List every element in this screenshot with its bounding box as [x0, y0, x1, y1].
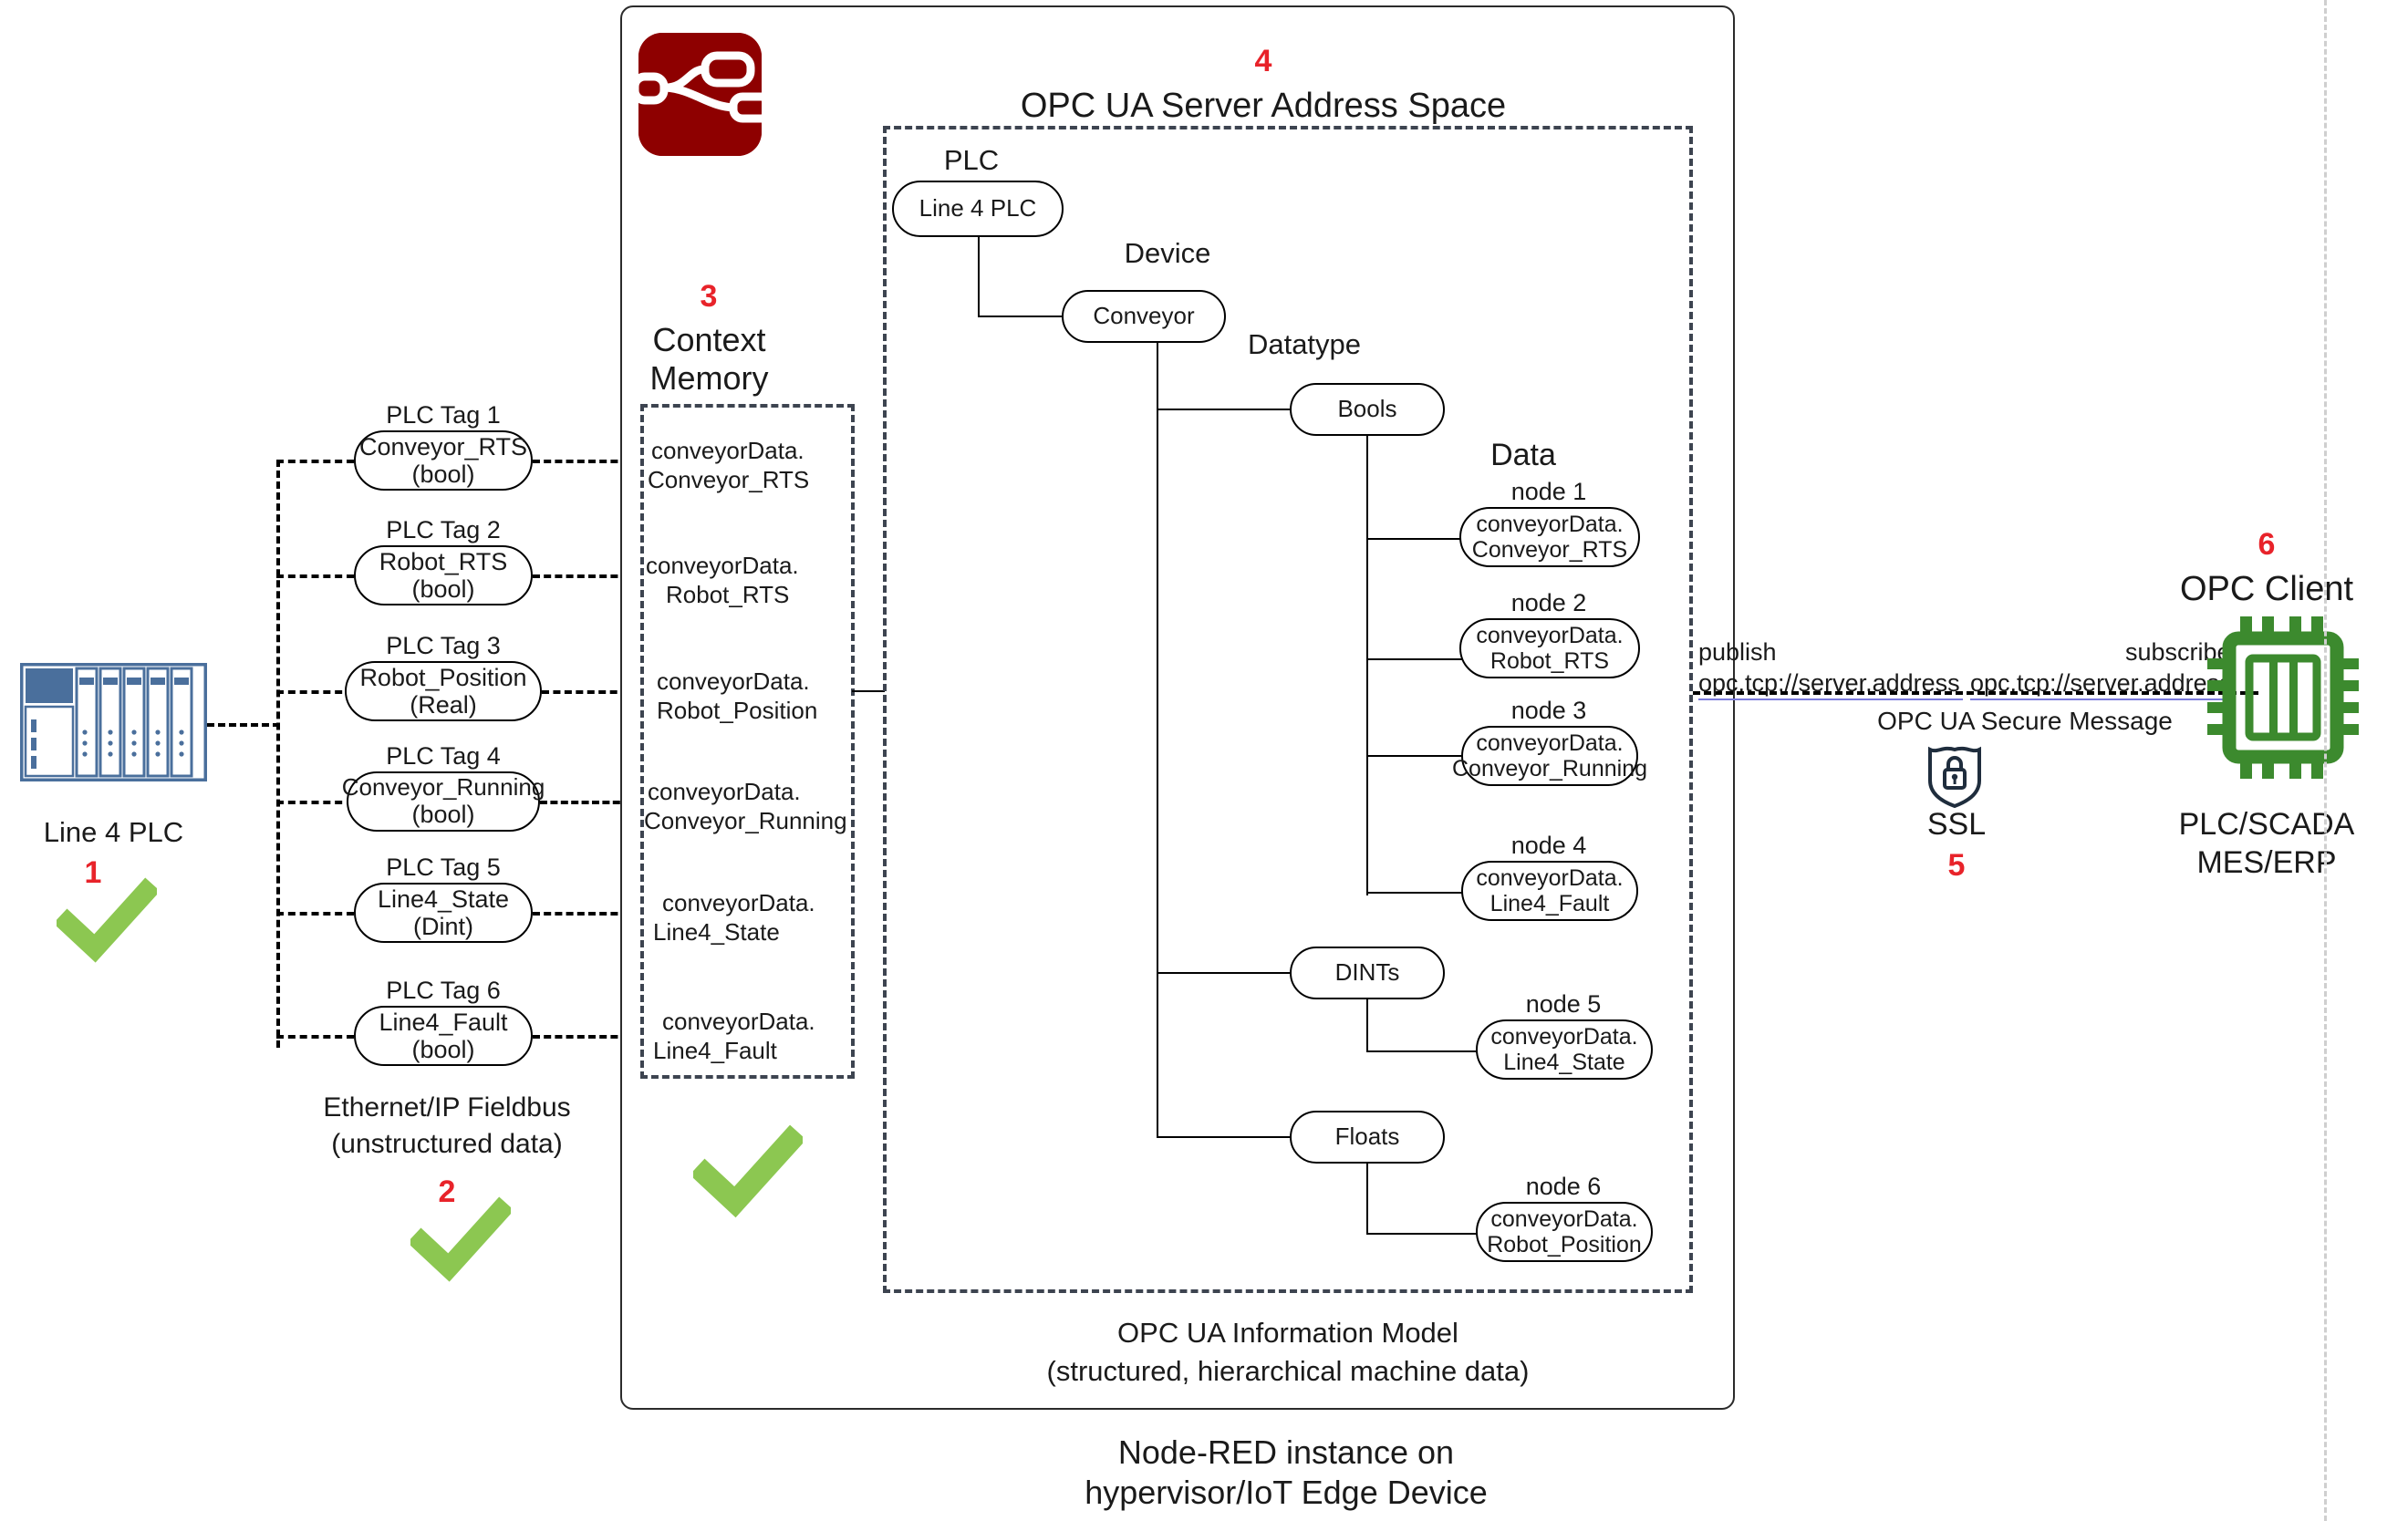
plc-tag-4-node[interactable]: Conveyor_Running (bool) [347, 771, 540, 832]
data-node-3-caption: node 3 [1467, 697, 1631, 725]
dints-to-node5 [1366, 1050, 1481, 1052]
opc-client-line2: MES/ERP [2125, 844, 2408, 881]
device-to-dints [1157, 972, 1290, 974]
addressspace-device-node-label: Conveyor [1093, 303, 1194, 329]
plc-tag-4-caption: PLC Tag 4 [337, 742, 549, 771]
memory-entry-3-prefix: conveyorData. [644, 667, 852, 696]
data-node-2-prefix: conveyorData. [1476, 623, 1623, 648]
plc-tag-6-name: Line4_Fault [379, 1009, 507, 1036]
plc-device-elbow-v [978, 237, 980, 317]
line4-plc-label: Line 4 PLC [20, 816, 207, 850]
memory-entry-5-suffix: Line4_State [644, 918, 852, 947]
line4-plc-graphic [20, 663, 207, 781]
memory-entry-1-suffix: Conveyor_RTS [644, 466, 852, 494]
datatype-dints-label: DINTs [1335, 959, 1400, 986]
step-number-6: 6 [2239, 527, 2294, 563]
plc-device-elbow-h [978, 316, 1062, 317]
container-footer-line1: Node-RED instance on [912, 1433, 1660, 1472]
data-node-1-suffix: Conveyor_RTS [1472, 537, 1627, 563]
plc-tag-1-node[interactable]: Conveyor_RTS (bool) [354, 430, 533, 491]
plc-tag-1-caption: PLC Tag 1 [354, 401, 533, 429]
plc-tag-6-node[interactable]: Line4_Fault (bool) [354, 1006, 533, 1066]
device-to-bools [1157, 409, 1290, 410]
memory-entry-1-prefix: conveyorData. [644, 437, 852, 465]
fieldbus-branch-6 [276, 1035, 354, 1039]
right-boundary-divider [2324, 0, 2327, 1521]
data-node-4-caption: node 4 [1467, 832, 1631, 860]
plc-tag-3-type: (Real) [410, 691, 477, 719]
data-node-2[interactable]: conveyorData. Robot_RTS [1459, 618, 1640, 678]
opc-client-line1: PLC/SCADA [2125, 806, 2408, 843]
fieldbus-label-line2: (unstructured data) [301, 1128, 593, 1160]
addressspace-device-node[interactable]: Conveyor [1062, 290, 1226, 343]
addressspace-datatype-dints[interactable]: DINTs [1290, 947, 1445, 999]
addressspace-datatype-floats[interactable]: Floats [1290, 1111, 1445, 1164]
plc-tag-6-type: (bool) [411, 1036, 474, 1063]
plc-tag-2-node[interactable]: Robot_RTS (bool) [354, 545, 533, 605]
publish-url-link[interactable]: opc.tcp://server.address [1698, 669, 1963, 700]
data-node-3-suffix: Conveyor_Running [1452, 756, 1647, 781]
plc-tag-1-type: (bool) [411, 460, 474, 488]
check-icon-2 [410, 1185, 511, 1286]
context-memory-title-line2: Memory [629, 359, 789, 398]
fieldbus-branch-2 [276, 574, 354, 578]
memory-entry-2-suffix: Robot_RTS [642, 581, 852, 609]
node-red-logo-icon [638, 33, 762, 156]
data-node-2-caption: node 2 [1467, 589, 1631, 617]
secure-message-label: OPC UA Secure Message [1770, 706, 2280, 736]
data-node-6-suffix: Robot_Position [1487, 1232, 1642, 1257]
addressspace-plc-node[interactable]: Line 4 PLC [892, 181, 1064, 237]
plc-tag-5-node[interactable]: Line4_State (Dint) [354, 883, 533, 943]
data-node-6-caption: node 6 [1481, 1173, 1645, 1201]
data-node-3[interactable]: conveyorData. Conveyor_Running [1461, 726, 1638, 786]
memory-entry-2-prefix: conveyorData. [642, 552, 852, 580]
memory-to-addressspace-connector [852, 690, 885, 692]
plc-tag-2-type: (bool) [411, 575, 474, 603]
fieldbus-label-line1: Ethernet/IP Fieldbus [301, 1092, 593, 1123]
data-node-5-caption: node 5 [1481, 990, 1645, 1019]
plc-tag-6-caption: PLC Tag 6 [354, 977, 533, 1005]
data-node-5[interactable]: conveyorData. Line4_State [1476, 1019, 1653, 1080]
publish-label: publish [1698, 638, 1881, 667]
plc-tag-1-name: Conveyor_RTS [359, 433, 527, 460]
node-red-logo [638, 33, 762, 156]
data-node-4-suffix: Line4_Fault [1490, 891, 1610, 916]
addressspace-plc-caption: PLC [912, 144, 1031, 177]
memory-entry-6-prefix: conveyorData. [644, 1008, 852, 1036]
plc-rack-icon [20, 663, 207, 781]
addressspace-datatype-bools[interactable]: Bools [1290, 383, 1445, 436]
data-node-6-prefix: conveyorData. [1490, 1206, 1637, 1232]
memory-entry-6-suffix: Line4_Fault [644, 1037, 852, 1065]
datatype-floats-label: Floats [1335, 1123, 1400, 1150]
datatype-bools-label: Bools [1337, 396, 1396, 422]
address-space-heading: OPC UA Server Address Space [912, 86, 1614, 127]
data-node-4-prefix: conveyorData. [1476, 865, 1623, 891]
context-memory-title-line1: Context [629, 321, 789, 359]
data-node-6[interactable]: conveyorData. Robot_Position [1476, 1202, 1653, 1262]
addressspace-datatype-caption: Datatype [1213, 328, 1396, 361]
step-number-4: 4 [1236, 44, 1291, 79]
device-to-floats [1157, 1136, 1290, 1138]
plc-tag-5-name: Line4_State [378, 885, 509, 913]
plc-tag-3-name: Robot_Position [359, 664, 526, 691]
bools-to-node4 [1366, 892, 1467, 894]
dints-trunk [1366, 999, 1368, 1052]
plc-tag-4-type: (bool) [411, 801, 474, 828]
addressspace-device-caption: Device [1085, 237, 1250, 270]
bools-trunk [1366, 436, 1368, 895]
device-datatype-trunk [1157, 343, 1158, 1138]
context-memory-box [640, 404, 855, 1079]
plc-tag-4-name: Conveyor_Running [342, 774, 545, 801]
bools-to-node1 [1366, 538, 1467, 540]
data-node-4[interactable]: conveyorData. Line4_Fault [1461, 861, 1638, 921]
floats-trunk [1366, 1164, 1368, 1235]
container-footer-line2: hypervisor/IoT Edge Device [912, 1474, 1660, 1512]
cpu-chip-icon [2207, 616, 2359, 779]
subscribe-url-link[interactable]: opc.tcp://server.address [1970, 669, 2235, 700]
check-icon-1 [57, 866, 157, 967]
fieldbus-branch-1 [276, 460, 354, 463]
data-node-1-prefix: conveyorData. [1476, 512, 1623, 537]
memory-entry-4-prefix: conveyorData. [642, 778, 857, 806]
plc-tag-2-caption: PLC Tag 2 [354, 516, 533, 544]
ssl-label: SSL [1874, 806, 2039, 843]
floats-to-node6 [1366, 1233, 1481, 1235]
fieldbus-trunk [276, 460, 280, 1048]
fieldbus-branch-4 [276, 801, 354, 804]
data-node-1[interactable]: conveyorData. Conveyor_RTS [1459, 507, 1640, 567]
addressspace-data-caption: Data [1423, 438, 1624, 473]
plc-bus-stub [207, 723, 280, 727]
data-node-5-suffix: Line4_State [1503, 1050, 1624, 1075]
plc-tag-3-caption: PLC Tag 3 [345, 632, 542, 660]
fieldbus-branch-3 [276, 690, 354, 694]
plc-tag-3-node[interactable]: Robot_Position (Real) [345, 661, 542, 721]
data-node-5-prefix: conveyorData. [1490, 1024, 1637, 1050]
opc-client-title: OPC Client [2125, 569, 2408, 610]
ssl-shield-lock-icon [1925, 740, 1985, 808]
data-node-2-suffix: Robot_RTS [1490, 648, 1609, 674]
fieldbus-branch-5 [276, 912, 354, 916]
step-number-5: 5 [1920, 848, 1993, 884]
check-icon-3 [693, 1112, 803, 1222]
opc-client-chip-graphic [2207, 616, 2359, 783]
memory-entry-3-suffix: Robot_Position [644, 697, 852, 725]
address-space-footer-line1: OPC UA Information Model [883, 1317, 1693, 1350]
plc-tag-2-name: Robot_RTS [379, 548, 508, 575]
step-number-3: 3 [677, 279, 741, 315]
data-node-1-caption: node 1 [1467, 478, 1631, 506]
address-space-footer-line2: (structured, hierarchical machine data) [883, 1355, 1693, 1389]
plc-tag-5-type: (Dint) [413, 913, 473, 940]
plc-tag-5-caption: PLC Tag 5 [354, 854, 533, 882]
data-node-3-prefix: conveyorData. [1476, 730, 1623, 756]
addressspace-plc-node-label: Line 4 PLC [919, 195, 1037, 222]
bools-to-node2 [1366, 658, 1467, 660]
memory-entry-5-prefix: conveyorData. [644, 889, 852, 917]
memory-entry-4-suffix: Conveyor_Running [638, 807, 861, 835]
